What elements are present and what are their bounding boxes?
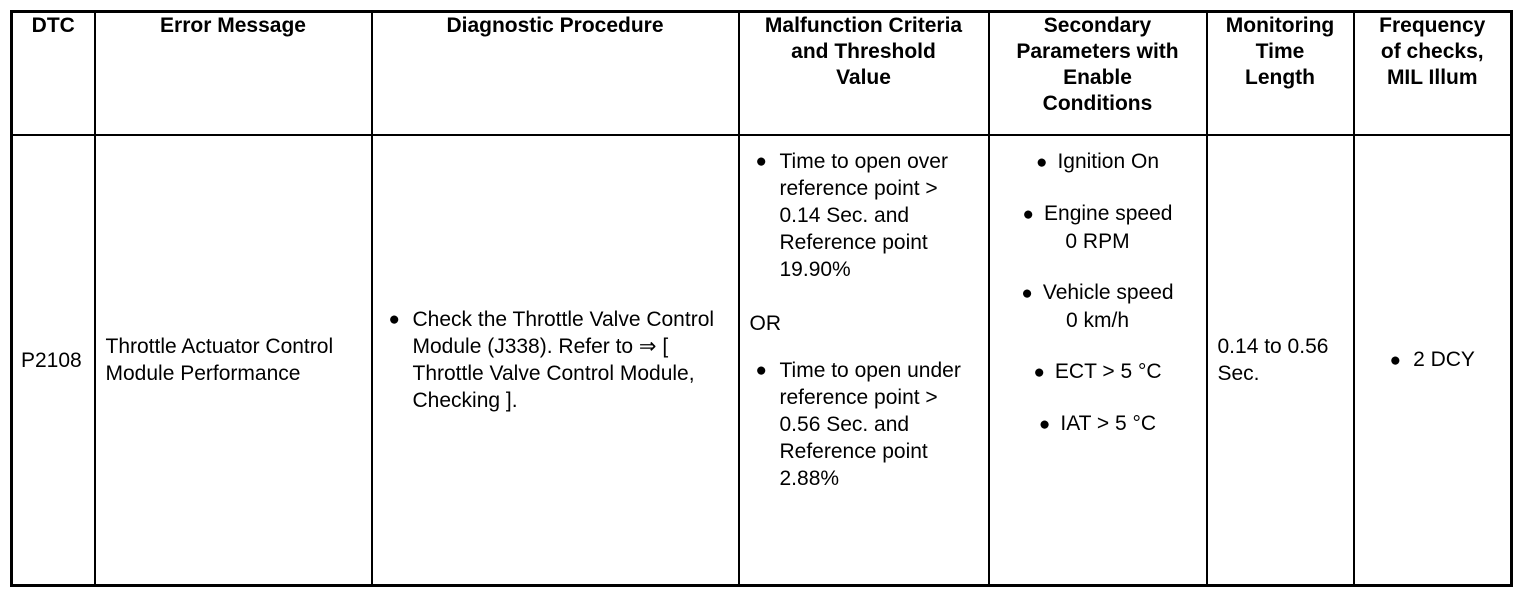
table-row: P2108 Throttle Actuator Control Module P…	[12, 135, 1512, 586]
bullet-icon: ●	[1390, 350, 1401, 371]
cell-diagnostic-procedure: ● Check the Throttle Valve Control Modul…	[372, 135, 739, 586]
page-canvas: DTC Error Message Diagnostic Procedure M…	[0, 0, 1520, 600]
column-header-malfunction-criteria: Malfunction Criteria and Threshold Value	[739, 12, 989, 136]
list-item: ●2 DCY	[1365, 346, 1501, 374]
table-body: P2108 Throttle Actuator Control Module P…	[12, 135, 1512, 586]
bullet-icon: ●	[1023, 204, 1034, 225]
diagnostic-procedure-step: Check the Throttle Valve Control Module …	[413, 308, 715, 412]
cell-frequency-mil: ●2 DCY	[1354, 135, 1512, 586]
bullet-icon: ●	[1036, 152, 1047, 173]
bullet-icon: ●	[1039, 414, 1050, 435]
secondary-parameter-label: Ignition On	[1057, 150, 1159, 173]
column-header-monitoring-time: Monitoring Time Length	[1207, 12, 1354, 136]
cell-secondary-parameters: ●Ignition On ●Engine speed 0 RPM ●Vehicl…	[989, 135, 1207, 586]
bullet-icon: ●	[389, 306, 400, 333]
dtc-diagnostic-table: DTC Error Message Diagnostic Procedure M…	[10, 10, 1513, 587]
frequency-header-line-3: MIL Illum	[1387, 66, 1478, 89]
malfunction-header-line-3: Value	[836, 66, 891, 89]
column-header-frequency-mil: Frequency of checks, MIL Illum	[1354, 12, 1512, 136]
bullet-icon: ●	[756, 357, 767, 384]
diagnostic-procedure-list: ● Check the Throttle Valve Control Modul…	[383, 306, 728, 414]
list-item: ●Vehicle speed 0 km/h	[1000, 279, 1196, 334]
secondary-parameter-label: Vehicle speed	[1043, 281, 1174, 304]
list-item: ●Engine speed 0 RPM	[1000, 200, 1196, 255]
list-item: ● Check the Throttle Valve Control Modul…	[383, 306, 728, 414]
frequency-header-line-2: of checks,	[1381, 40, 1484, 63]
malfunction-criteria-second-list: ● Time to open under reference point > 0…	[750, 357, 978, 492]
monitoring-time-length-value: 0.14 to 0.56 Sec.	[1218, 333, 1343, 387]
dtc-code: P2108	[21, 347, 86, 374]
monitoring-header-line-3: Length	[1245, 66, 1315, 89]
malfunction-criteria-first-list: ● Time to open over reference point > 0.…	[750, 148, 978, 283]
cell-dtc: P2108	[12, 135, 95, 586]
column-header-secondary-parameters: Secondary Parameters with Enable Conditi…	[989, 12, 1207, 136]
malfunction-header-line-1: Malfunction Criteria	[765, 14, 962, 37]
secondary-parameter-label: Engine speed	[1044, 202, 1172, 225]
error-message-text: Throttle Actuator Control Module Perform…	[106, 333, 361, 387]
monitoring-header-line-2: Time	[1256, 40, 1305, 63]
secondary-header-line-4: Conditions	[1043, 92, 1153, 115]
list-item: ● Time to open under reference point > 0…	[750, 357, 978, 492]
list-item: ● Time to open over reference point > 0.…	[750, 148, 978, 283]
secondary-parameter-label: ECT > 5 °C	[1055, 360, 1162, 383]
secondary-parameter-value: 0 RPM	[1000, 228, 1196, 255]
secondary-parameter-label: IAT > 5 °C	[1060, 412, 1156, 435]
frequency-header-line-1: Frequency	[1379, 14, 1485, 37]
table-header: DTC Error Message Diagnostic Procedure M…	[12, 12, 1512, 136]
cell-monitoring-time-length: 0.14 to 0.56 Sec.	[1207, 135, 1354, 586]
bullet-icon: ●	[1021, 283, 1032, 304]
secondary-header-line-3: Enable	[1063, 66, 1132, 89]
malfunction-criteria-connector: OR	[750, 310, 978, 337]
malfunction-criteria-first: Time to open over reference point > 0.14…	[780, 150, 948, 281]
secondary-parameters-list: ●Ignition On ●Engine speed 0 RPM ●Vehicl…	[1000, 148, 1196, 438]
secondary-header-line-1: Secondary	[1044, 14, 1151, 37]
column-header-diagnostic-procedure: Diagnostic Procedure	[372, 12, 739, 136]
malfunction-criteria-second: Time to open under reference point > 0.5…	[780, 359, 961, 490]
column-header-dtc: DTC	[12, 12, 95, 136]
cell-malfunction-criteria: ● Time to open over reference point > 0.…	[739, 135, 989, 586]
column-header-error-message: Error Message	[95, 12, 372, 136]
list-item: ●ECT > 5 °C	[1000, 358, 1196, 386]
secondary-header-line-2: Parameters with	[1016, 40, 1178, 63]
bullet-icon: ●	[1033, 362, 1044, 383]
monitoring-header-line-1: Monitoring	[1226, 14, 1334, 37]
bullet-icon: ●	[756, 148, 767, 175]
column-header-error-message-label: Error Message	[160, 14, 306, 37]
frequency-of-checks-list: ●2 DCY	[1365, 346, 1501, 374]
list-item: ●Ignition On	[1000, 148, 1196, 176]
secondary-parameter-value: 0 km/h	[1000, 307, 1196, 334]
cell-error-message: Throttle Actuator Control Module Perform…	[95, 135, 372, 586]
column-header-dtc-label: DTC	[32, 14, 75, 37]
header-row: DTC Error Message Diagnostic Procedure M…	[12, 12, 1512, 136]
malfunction-header-line-2: and Threshold	[791, 40, 936, 63]
frequency-of-checks-value: 2 DCY	[1413, 348, 1475, 371]
column-header-diagnostic-procedure-label: Diagnostic Procedure	[446, 14, 663, 37]
list-item: ●IAT > 5 °C	[1000, 410, 1196, 438]
